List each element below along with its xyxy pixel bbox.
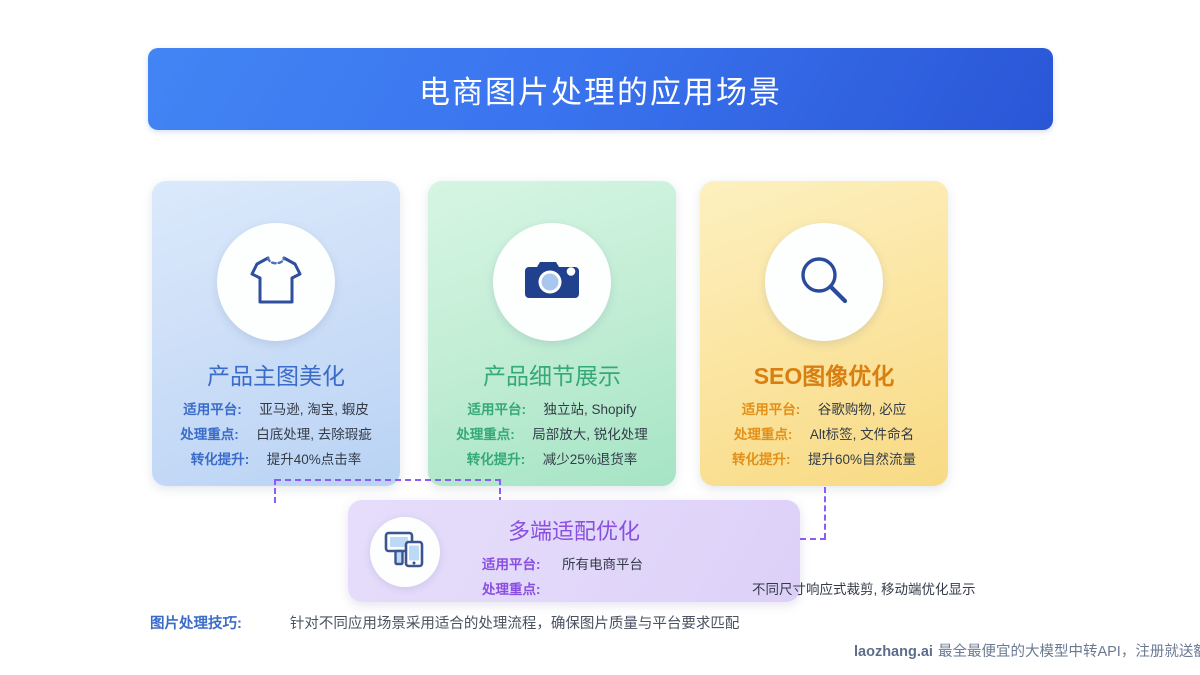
detail-label: 处理重点:	[180, 422, 256, 447]
card-detail-rows: 适用平台: 所有电商平台 处理重点: 不同尺寸响应式裁剪, 移动端优化显示	[482, 552, 1200, 602]
caption-label: 图片处理技巧:	[150, 612, 242, 633]
detail-row: 处理重点: 不同尺寸响应式裁剪, 移动端优化显示	[482, 577, 1200, 602]
page-title: 电商图片处理的应用场景	[419, 67, 782, 112]
detail-value: 局部放大, 锐化处理	[532, 422, 648, 447]
card-title: SEO图像优化	[700, 357, 948, 391]
connector-vertical-right	[824, 487, 826, 539]
detail-value: 提升60%自然流量	[808, 447, 916, 472]
card-title: 多端适配优化	[508, 514, 640, 546]
detail-row: 转化提升: 减少25%退货率	[440, 447, 664, 472]
infographic-canvas: 电商图片处理的应用场景 产品主图美化 适用平台: 亚马逊, 淘宝, 蝦皮 处理重…	[0, 0, 1200, 675]
icon-badge	[765, 223, 883, 341]
detail-label: 转化提升:	[732, 447, 808, 472]
icon-badge	[370, 517, 440, 587]
card-product-main-image[interactable]: 产品主图美化 适用平台: 亚马逊, 淘宝, 蝦皮 处理重点: 白底处理, 去除瑕…	[152, 181, 400, 486]
devices-icon	[384, 530, 426, 575]
title-banner: 电商图片处理的应用场景	[148, 48, 1053, 130]
detail-value: 所有电商平台	[562, 552, 643, 577]
watermark-brand: laozhang.ai	[854, 644, 933, 660]
detail-label: 适用平台:	[742, 397, 818, 422]
card-title: 产品主图美化	[152, 357, 400, 391]
detail-row: 适用平台: 独立站, Shopify	[440, 397, 664, 422]
detail-value: 白底处理, 去除瑕疵	[256, 422, 372, 447]
detail-label: 转化提升:	[191, 447, 267, 472]
detail-value: 减少25%退货率	[543, 447, 638, 472]
magnifier-icon	[797, 253, 851, 312]
watermark: laozhang.ai最全最便宜的大模型中转API，注册就送额度	[854, 640, 1200, 661]
detail-row: 处理重点: Alt标签, 文件命名	[712, 422, 936, 447]
card-product-detail-display[interactable]: 产品细节展示 适用平台: 独立站, Shopify 处理重点: 局部放大, 锐化…	[428, 181, 676, 486]
tshirt-icon	[248, 251, 304, 314]
card-seo-image-optimization[interactable]: SEO图像优化 适用平台: 谷歌购物, 必应 处理重点: Alt标签, 文件命名…	[700, 181, 948, 486]
detail-row: 转化提升: 提升40%点击率	[164, 447, 388, 472]
icon-badge	[217, 223, 335, 341]
connector-vertical-left	[274, 479, 276, 503]
card-detail-rows: 适用平台: 独立站, Shopify 处理重点: 局部放大, 锐化处理 转化提升…	[428, 397, 676, 472]
icon-badge	[493, 223, 611, 341]
camera-icon	[523, 256, 581, 309]
detail-label: 适用平台:	[467, 397, 543, 422]
detail-label: 处理重点:	[734, 422, 810, 447]
detail-label: 适用平台:	[183, 397, 259, 422]
detail-value: 谷歌购物, 必应	[818, 397, 907, 422]
detail-row: 处理重点: 白底处理, 去除瑕疵	[164, 422, 388, 447]
connector-horizontal-top	[275, 479, 501, 481]
detail-value: Alt标签, 文件命名	[810, 422, 914, 447]
detail-value: 独立站, Shopify	[543, 397, 636, 422]
detail-value: 不同尺寸响应式裁剪, 移动端优化显示	[752, 577, 976, 602]
detail-value: 亚马逊, 淘宝, 蝦皮	[259, 397, 369, 422]
card-multi-device-adaptation[interactable]: 多端适配优化 适用平台: 所有电商平台 处理重点: 不同尺寸响应式裁剪, 移动端…	[348, 500, 800, 602]
detail-value: 提升40%点击率	[267, 447, 362, 472]
card-detail-rows: 适用平台: 亚马逊, 淘宝, 蝦皮 处理重点: 白底处理, 去除瑕疵 转化提升:…	[152, 397, 400, 472]
detail-label: 处理重点:	[456, 422, 532, 447]
watermark-text: 最全最便宜的大模型中转API，注册就送额度	[938, 644, 1200, 660]
detail-label: 适用平台:	[482, 552, 562, 577]
detail-row: 适用平台: 谷歌购物, 必应	[712, 397, 936, 422]
detail-row: 转化提升: 提升60%自然流量	[712, 447, 936, 472]
detail-row: 适用平台: 所有电商平台	[482, 552, 1200, 577]
card-title: 产品细节展示	[428, 357, 676, 391]
footer-caption: 图片处理技巧: 针对不同应用场景采用适合的处理流程，确保图片质量与平台要求匹配	[150, 612, 739, 633]
card-detail-rows: 适用平台: 谷歌购物, 必应 处理重点: Alt标签, 文件命名 转化提升: 提…	[700, 397, 948, 472]
detail-label: 处理重点:	[482, 577, 562, 602]
detail-row: 处理重点: 局部放大, 锐化处理	[440, 422, 664, 447]
detail-label: 转化提升:	[467, 447, 543, 472]
caption-text: 针对不同应用场景采用适合的处理流程，确保图片质量与平台要求匹配	[290, 612, 740, 633]
detail-row: 适用平台: 亚马逊, 淘宝, 蝦皮	[164, 397, 388, 422]
connector-horizontal-right	[800, 538, 826, 540]
